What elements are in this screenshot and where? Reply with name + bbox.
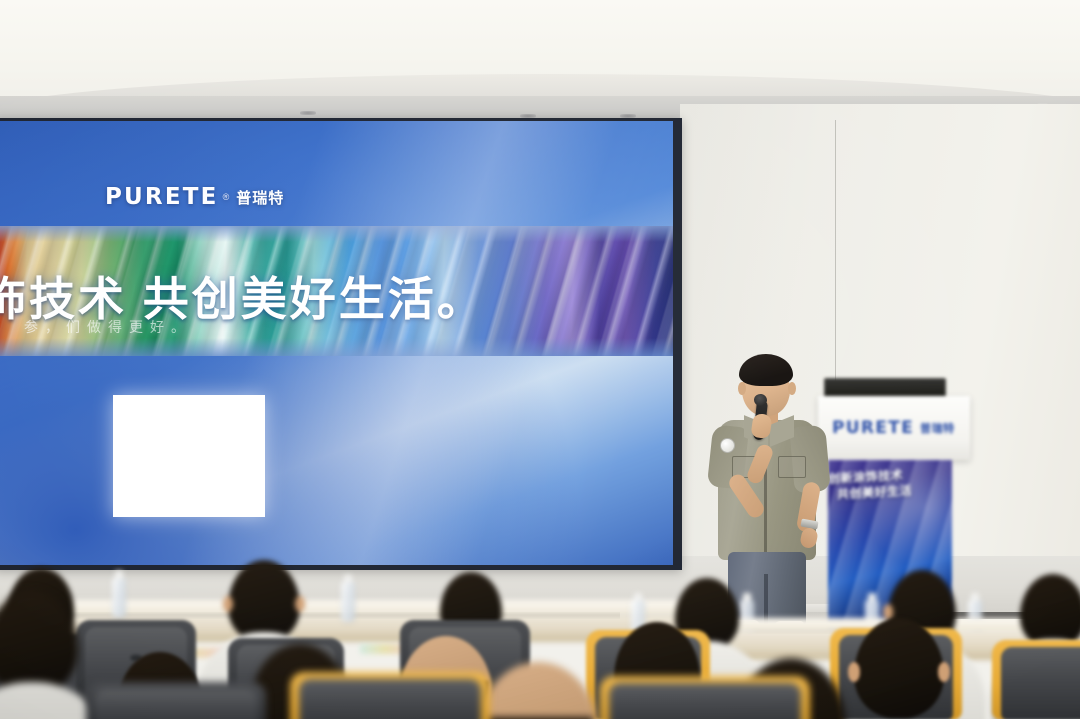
slide-brand-chinese: 普瑞特 — [236, 187, 284, 208]
chair-seatback — [95, 689, 257, 719]
band-top-fade — [0, 226, 673, 242]
audience-chair-front — [600, 676, 810, 719]
podium-brand-chinese: 普瑞特 — [920, 420, 955, 436]
audience-member — [854, 618, 944, 718]
presenter-shirt-pocket — [778, 456, 806, 478]
presenter-hair — [739, 354, 793, 386]
presenter-chest-badge — [720, 438, 735, 453]
presenter-ear-left — [738, 382, 746, 395]
led-screen-display: PURETE ® 普瑞特 饰技术 共创美好生活。 参，们做得更好。 — [0, 121, 673, 565]
slide-brand-word: PURETE — [105, 184, 219, 210]
chair-seatback — [609, 683, 801, 719]
audience-member — [228, 560, 300, 642]
water-bottle — [341, 582, 355, 622]
audience-head — [1020, 574, 1080, 648]
water-bottle — [112, 578, 126, 618]
audience-chair-front — [86, 682, 266, 719]
registered-trademark-icon: ® — [223, 192, 230, 202]
chair-seatback — [299, 679, 481, 719]
slide-image-placeholder — [113, 395, 265, 517]
downlight-icon — [300, 111, 316, 115]
audience-member-front — [0, 590, 78, 694]
chair-seatback — [1001, 647, 1080, 719]
audience-chair-front — [290, 672, 490, 719]
audience-member — [1020, 574, 1080, 648]
audience-chair — [992, 640, 1080, 719]
audience-head — [228, 560, 300, 642]
slide-brand-logo: PURETE ® 普瑞特 — [105, 184, 284, 210]
conference-photo: PURETE ® 普瑞特 饰技术 共创美好生活。 参，们做得更好。 — [0, 0, 1080, 719]
audience-member-front — [478, 662, 598, 719]
podium-brand-logo: PURETE 普瑞特 — [832, 418, 955, 438]
audience-head — [0, 590, 78, 694]
slide-subline: 参，们做得更好。 — [24, 317, 444, 337]
led-screen-bezel: PURETE ® 普瑞特 饰技术 共创美好生活。 参，们做得更好。 — [0, 118, 682, 570]
presenter-leg-seam — [764, 574, 768, 624]
presenter-ear-right — [788, 382, 796, 395]
audience-head — [854, 618, 944, 718]
band-bottom-fade — [0, 338, 673, 356]
audience-head — [478, 662, 598, 719]
